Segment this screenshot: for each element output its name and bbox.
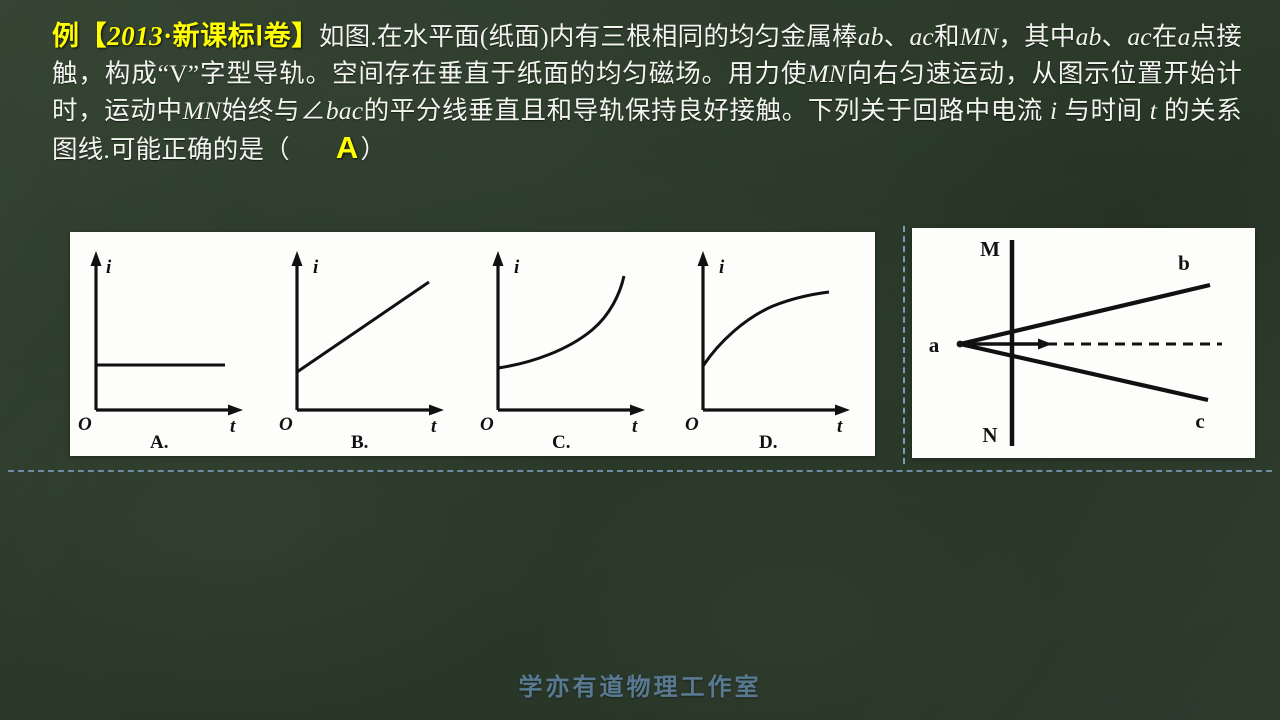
tag-bracket-close: 】 [291, 21, 319, 51]
curve-c [498, 276, 624, 368]
tag-exam-name: 新课标Ⅰ卷 [173, 21, 292, 51]
question-body-6: 在 [1152, 22, 1178, 51]
option-label-c: C. [552, 432, 570, 453]
var-t: t [1150, 96, 1157, 125]
option-label-d: D. [759, 432, 777, 453]
x-label-d: t [837, 416, 843, 437]
y-label-d: i [719, 257, 725, 278]
x-label-b: t [431, 416, 437, 437]
x-label-a: t [230, 416, 236, 437]
question-body-4: ，其中 [998, 22, 1075, 51]
graph-b-svg: i t O B. [271, 232, 472, 456]
question-body-3: 和 [934, 22, 960, 51]
rail-diagram-svg: M N a b c [912, 228, 1255, 458]
origin-label-c: O [480, 414, 494, 435]
question-body-2: 、 [884, 22, 910, 51]
rail-panel-dashed-edge [903, 226, 905, 464]
graph-option-c[interactable]: i t O C. [472, 232, 673, 456]
y-axis-arrow-c [493, 251, 504, 266]
var-mn-3: MN [183, 96, 222, 125]
x-label-c: t [632, 416, 638, 437]
graph-c-svg: i t O C. [472, 232, 673, 456]
question-body-5: 、 [1102, 22, 1128, 51]
var-ac-2: ac [1127, 22, 1151, 51]
curve-b [297, 282, 429, 372]
graph-option-a[interactable]: i t O A. [70, 232, 271, 456]
label-c: c [1195, 409, 1204, 433]
option-label-a: A. [150, 432, 168, 453]
origin-label-b: O [279, 414, 293, 435]
question-body-11: 与时间 [1057, 96, 1149, 125]
y-label-c: i [514, 257, 520, 278]
label-b: b [1178, 251, 1190, 275]
var-mn-1: MN [960, 22, 999, 51]
origin-label-a: O [78, 414, 92, 435]
option-label-b: B. [351, 432, 368, 453]
y-axis-arrow-b [292, 251, 303, 266]
label-n: N [982, 423, 997, 447]
y-axis-arrow-a [91, 251, 102, 266]
var-mn-2: MN [807, 59, 846, 88]
var-ab-2: ab [1076, 22, 1102, 51]
y-label-a: i [106, 257, 112, 278]
x-axis-arrow-d [835, 405, 850, 416]
origin-label-d: O [685, 414, 699, 435]
x-axis-arrow-b [429, 405, 444, 416]
graph-options-panel: i t O A. i t O B. i t O [70, 232, 875, 456]
var-bac: bac [326, 96, 363, 125]
footer-watermark: 学亦有道物理工作室 [0, 667, 1280, 702]
tag-year: 2013 [107, 21, 163, 51]
question-body-1: 如图.在水平面(纸面)内有三根相同的均匀金属棒 [319, 22, 858, 51]
motion-arrow-head [1038, 339, 1052, 350]
label-a: a [929, 333, 940, 357]
rail-ab [960, 285, 1210, 344]
graph-d-svg: i t O D. [673, 232, 874, 456]
question-body-13: ） [360, 135, 386, 164]
rail-ac [960, 344, 1208, 400]
section-divider [8, 470, 1272, 472]
question-body-10: 的平分线垂直且和导轨保持良好接触。下列关于回路中电流 [363, 96, 1050, 125]
vertex-point-a [957, 341, 964, 348]
answer-reveal: A [334, 130, 361, 165]
question-text-block: 例【2013·新课标Ⅰ卷】如图.在水平面(纸面)内有三根相同的均匀金属棒ab、a… [52, 18, 1242, 168]
question-body-9: 始终与∠ [221, 96, 326, 125]
graph-option-b[interactable]: i t O B. [271, 232, 472, 456]
graph-option-d[interactable]: i t O D. [673, 232, 874, 456]
curve-d [703, 292, 829, 366]
x-axis-arrow-c [630, 405, 645, 416]
tag-dot: · [163, 21, 173, 51]
var-ab-1: ab [858, 22, 884, 51]
y-axis-arrow-d [698, 251, 709, 266]
x-axis-arrow-a [228, 405, 243, 416]
tag-bracket-open: 【 [80, 21, 108, 51]
tag-prefix: 例 [52, 21, 80, 51]
label-m: M [980, 237, 1000, 261]
rail-diagram-panel: M N a b c [912, 228, 1255, 458]
var-a: a [1178, 22, 1191, 51]
graph-a-svg: i t O A. [70, 232, 271, 456]
var-ac-1: ac [909, 22, 933, 51]
y-label-b: i [313, 257, 319, 278]
exam-tag: 例【2013·新课标Ⅰ卷】 [52, 21, 319, 51]
